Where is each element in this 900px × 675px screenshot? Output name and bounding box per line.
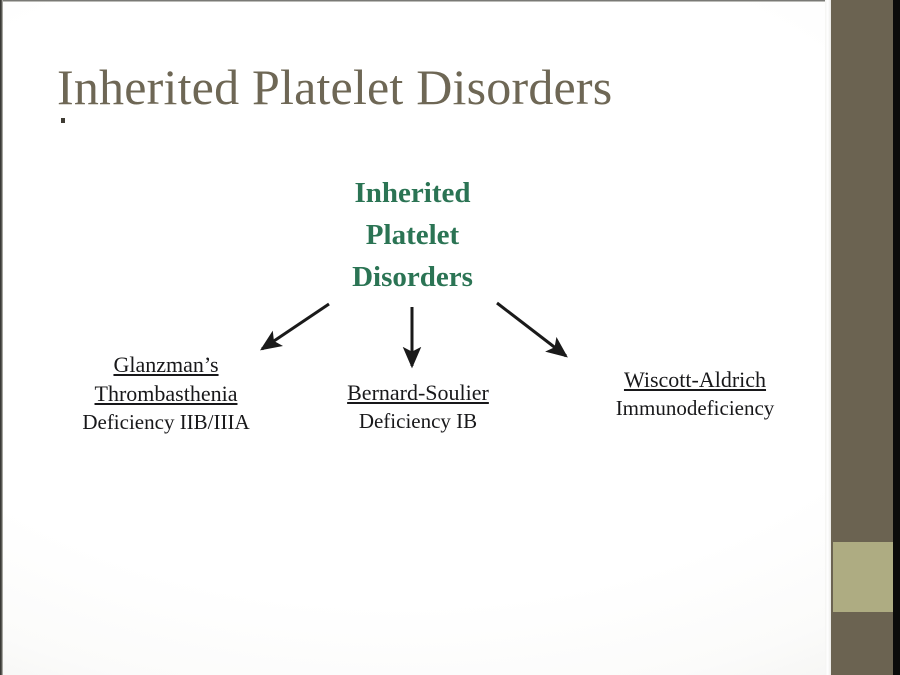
diagram-leaf-wiscott-aldrich: Wiscott-Aldrich Immunodeficiency: [571, 365, 819, 423]
diagram-connectors: [0, 0, 832, 675]
leaf-wiscott-aldrich-name: Wiscott-Aldrich: [571, 365, 819, 394]
leaf-glanzmans-name-line-2: Thrombasthenia: [44, 379, 288, 408]
leaf-wiscott-aldrich-subtitle: Immunodeficiency: [571, 394, 819, 423]
leaf-glanzmans-subtitle: Deficiency IIB/IIIA: [44, 408, 288, 437]
diagram-leaf-glanzmans: Glanzman’s Thrombasthenia Deficiency IIB…: [44, 350, 288, 437]
leaf-bernard-soulier-name: Bernard-Soulier: [307, 378, 529, 407]
sidebar-band-accent: [833, 542, 893, 612]
diagram-leaf-bernard-soulier: Bernard-Soulier Deficiency IB: [307, 378, 529, 436]
slide-right-frame: [893, 0, 900, 675]
slide: Inherited Platelet Disorders Inherited P…: [0, 0, 900, 675]
leaf-glanzmans-name-line-1: Glanzman’s: [44, 350, 288, 379]
arrow-to-wiscott-aldrich-icon: [497, 303, 566, 356]
leaf-bernard-soulier-subtitle: Deficiency IB: [307, 407, 529, 436]
arrow-to-glanzmans-icon: [262, 304, 329, 349]
